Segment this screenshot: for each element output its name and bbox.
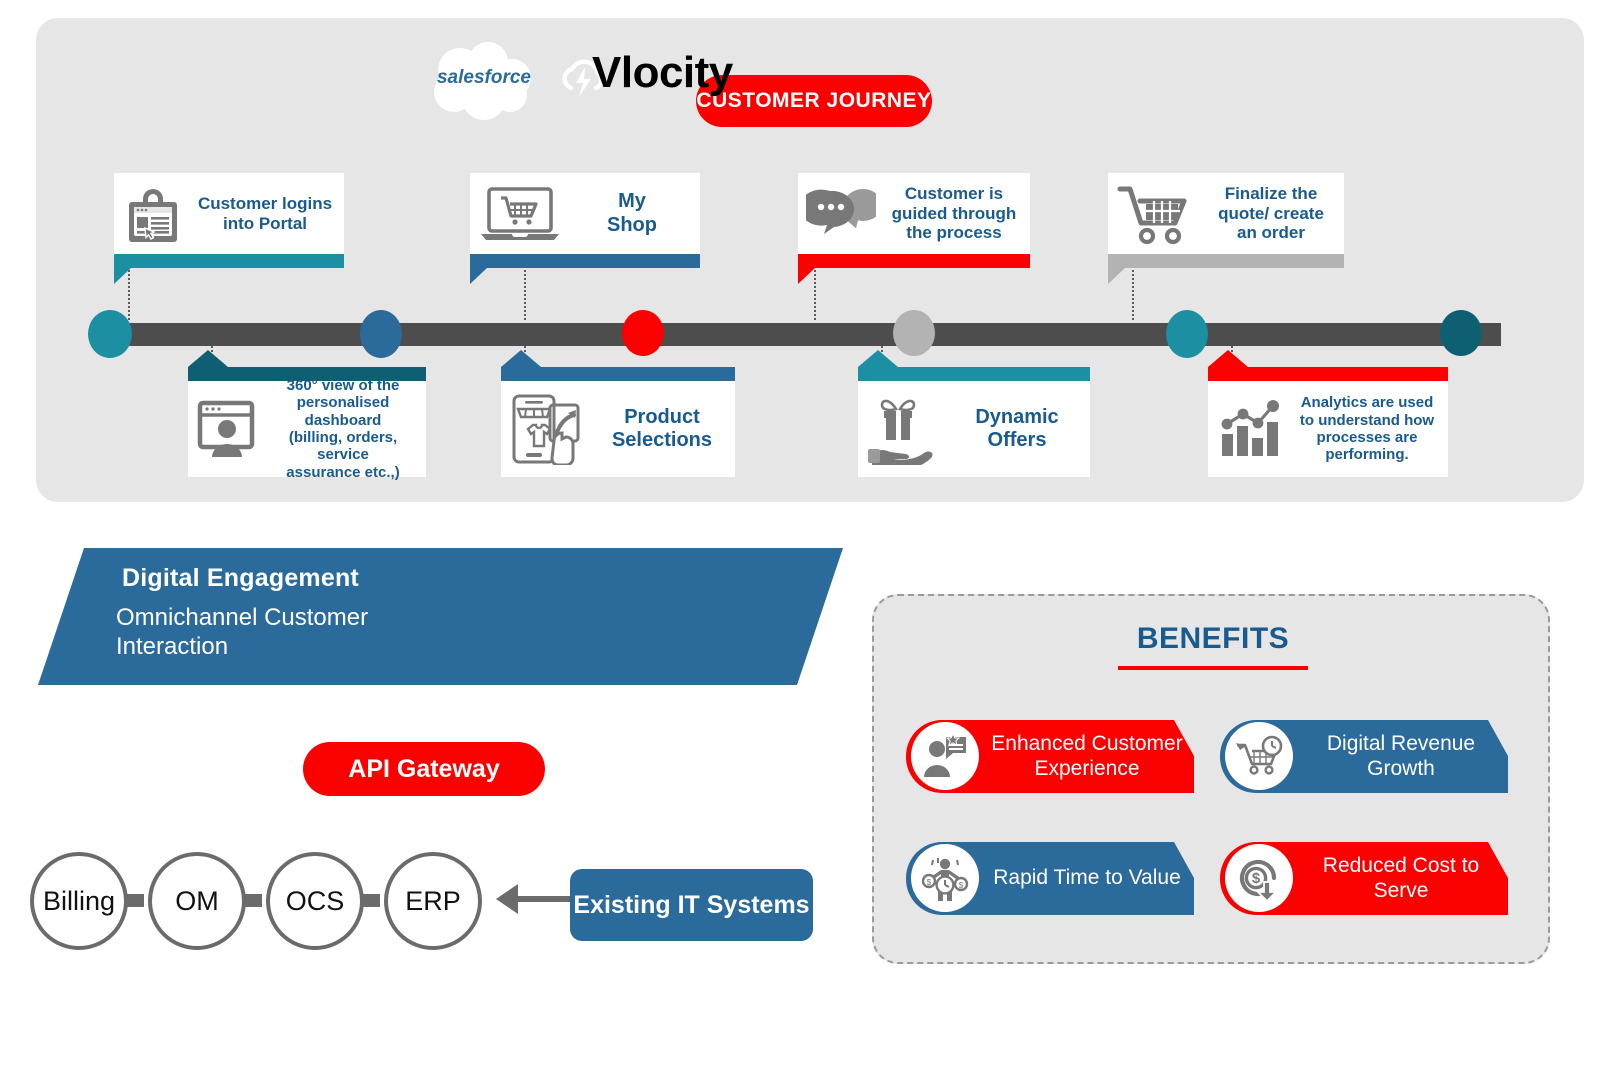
timeline-dot-guided — [893, 310, 935, 356]
cart-clock-icon — [1225, 722, 1293, 790]
infographic-canvas: CUSTOMER JOURNEY — [0, 0, 1620, 1065]
customer-journey-panel: CUSTOMER JOURNEY — [36, 18, 1584, 502]
benefits-title: BENEFITS — [874, 622, 1552, 656]
existing-it-systems-badge[interactable]: Existing IT Systems — [570, 869, 813, 941]
journey-card-my-shop[interactable]: My Shop — [470, 173, 700, 254]
benefit-card-rapid-time-to-value[interactable]: $ $ Rapid Time to Value — [906, 842, 1194, 915]
timeline-dot-dashboard — [360, 310, 402, 358]
journey-card-label: Analytics are used to understand how pro… — [1292, 394, 1448, 464]
salesforce-wordmark: salesforce — [434, 67, 534, 89]
journey-card-label: Customer logins into Portal — [192, 194, 344, 233]
journey-card-label: Customer is guided through the process — [884, 184, 1030, 243]
legacy-node-label: OCS — [286, 886, 345, 917]
journey-card-accent-bar — [501, 367, 735, 381]
legacy-node-label: OM — [175, 886, 219, 917]
legacy-node-label: Billing — [43, 886, 115, 917]
journey-card-notch — [858, 350, 898, 367]
journey-card-accent-bar — [114, 254, 344, 268]
journey-card-label: My Shop — [570, 190, 700, 236]
portal-bag-icon — [114, 173, 192, 254]
journey-card-notch — [1108, 268, 1142, 284]
timeline-dot-analytics — [1440, 310, 1482, 356]
journey-card-dynamic-offers[interactable]: Dynamic Offers — [858, 381, 1090, 477]
journey-card-finalize-order[interactable]: Finalize the quote/ create an order — [1108, 173, 1344, 254]
journey-card-label: Finalize the quote/ create an order — [1204, 184, 1344, 243]
legacy-node-billing[interactable]: Billing — [30, 852, 128, 950]
benefit-card-label: Reduced Cost to Serve — [1298, 842, 1504, 915]
journey-timeline-bar — [126, 323, 1501, 346]
benefit-card-enhanced-customer-experience[interactable]: Enhanced Customer Experience — [906, 720, 1194, 793]
benefit-card-label: Enhanced Customer Experience — [984, 720, 1190, 793]
benefits-underline — [1118, 666, 1308, 670]
mobile-shop-icon — [501, 381, 595, 477]
legacy-node-ocs[interactable]: OCS — [266, 852, 364, 950]
journey-card-accent-bar — [1108, 254, 1344, 268]
journey-card-analytics[interactable]: Analytics are used to understand how pro… — [1208, 381, 1448, 477]
timeline-tick-myshop — [524, 266, 526, 320]
journey-card-notch — [1208, 350, 1248, 367]
svg-text:$: $ — [1252, 870, 1261, 887]
digital-engagement-subtitle: Omnichannel Customer Interaction — [116, 604, 416, 662]
shopping-cart-icon — [1108, 173, 1204, 254]
journey-card-guided-process[interactable]: Customer is guided through the process — [798, 173, 1030, 254]
bar-chart-icon — [1208, 381, 1292, 477]
journey-card-accent-bar — [858, 367, 1090, 381]
journey-card-label: 360° view of the personalised dashboard … — [266, 377, 426, 481]
journey-card-label: Product Selections — [595, 406, 735, 452]
journey-card-product-selections[interactable]: Product Selections — [501, 381, 735, 477]
journey-card-notch — [798, 268, 832, 284]
digital-engagement-title: Digital Engagement — [122, 564, 359, 593]
person-money-clock-icon: $ $ — [911, 844, 979, 912]
journey-card-accent-bar — [470, 254, 700, 268]
benefit-card-label: Rapid Time to Value — [984, 842, 1190, 915]
journey-card-notch — [470, 268, 504, 284]
timeline-dot-dynamic — [1166, 310, 1208, 358]
laptop-cart-icon — [470, 173, 570, 254]
legacy-node-erp[interactable]: ERP — [384, 852, 482, 950]
journey-card-label: Dynamic Offers — [950, 406, 1090, 452]
legacy-node-label: ERP — [405, 886, 461, 917]
existing-it-arrow-head — [496, 884, 518, 914]
legacy-node-om[interactable]: OM — [148, 852, 246, 950]
journey-card-notch — [188, 350, 228, 367]
api-gateway-badge[interactable]: API Gateway — [303, 742, 545, 796]
benefit-card-label: Digital Revenue Growth — [1298, 720, 1504, 793]
svg-text:$: $ — [959, 881, 964, 890]
chat-bubbles-icon — [798, 173, 884, 254]
customer-feedback-icon — [911, 722, 979, 790]
benefits-panel: BENEFITS Enhanced Customer Experience — [872, 594, 1550, 964]
benefit-card-reduced-cost-to-serve[interactable]: $ Reduced Cost to Serve — [1220, 842, 1508, 915]
journey-card-notch — [114, 268, 148, 284]
timeline-dot-myshop — [622, 310, 664, 356]
dollar-down-arrow-icon: $ — [1225, 844, 1293, 912]
svg-text:$: $ — [927, 878, 932, 887]
vlocity-wordmark: Vlocity — [592, 48, 733, 98]
journey-card-notch — [501, 350, 541, 367]
timeline-dot-portal — [88, 310, 132, 358]
gift-hand-icon — [858, 381, 950, 477]
benefit-card-digital-revenue-growth[interactable]: Digital Revenue Growth — [1220, 720, 1508, 793]
dashboard-user-icon — [188, 381, 266, 477]
journey-card-360-dashboard[interactable]: 360° view of the personalised dashboard … — [188, 381, 426, 477]
journey-card-customer-login[interactable]: Customer logins into Portal — [114, 173, 344, 254]
digital-engagement-banner: Digital Engagement Omnichannel Customer … — [38, 548, 843, 685]
journey-card-accent-bar — [1208, 367, 1448, 381]
journey-card-accent-bar — [798, 254, 1030, 268]
existing-it-arrow-shaft — [512, 896, 578, 902]
legacy-systems-chain: Billing OM OCS ERP — [30, 852, 500, 952]
